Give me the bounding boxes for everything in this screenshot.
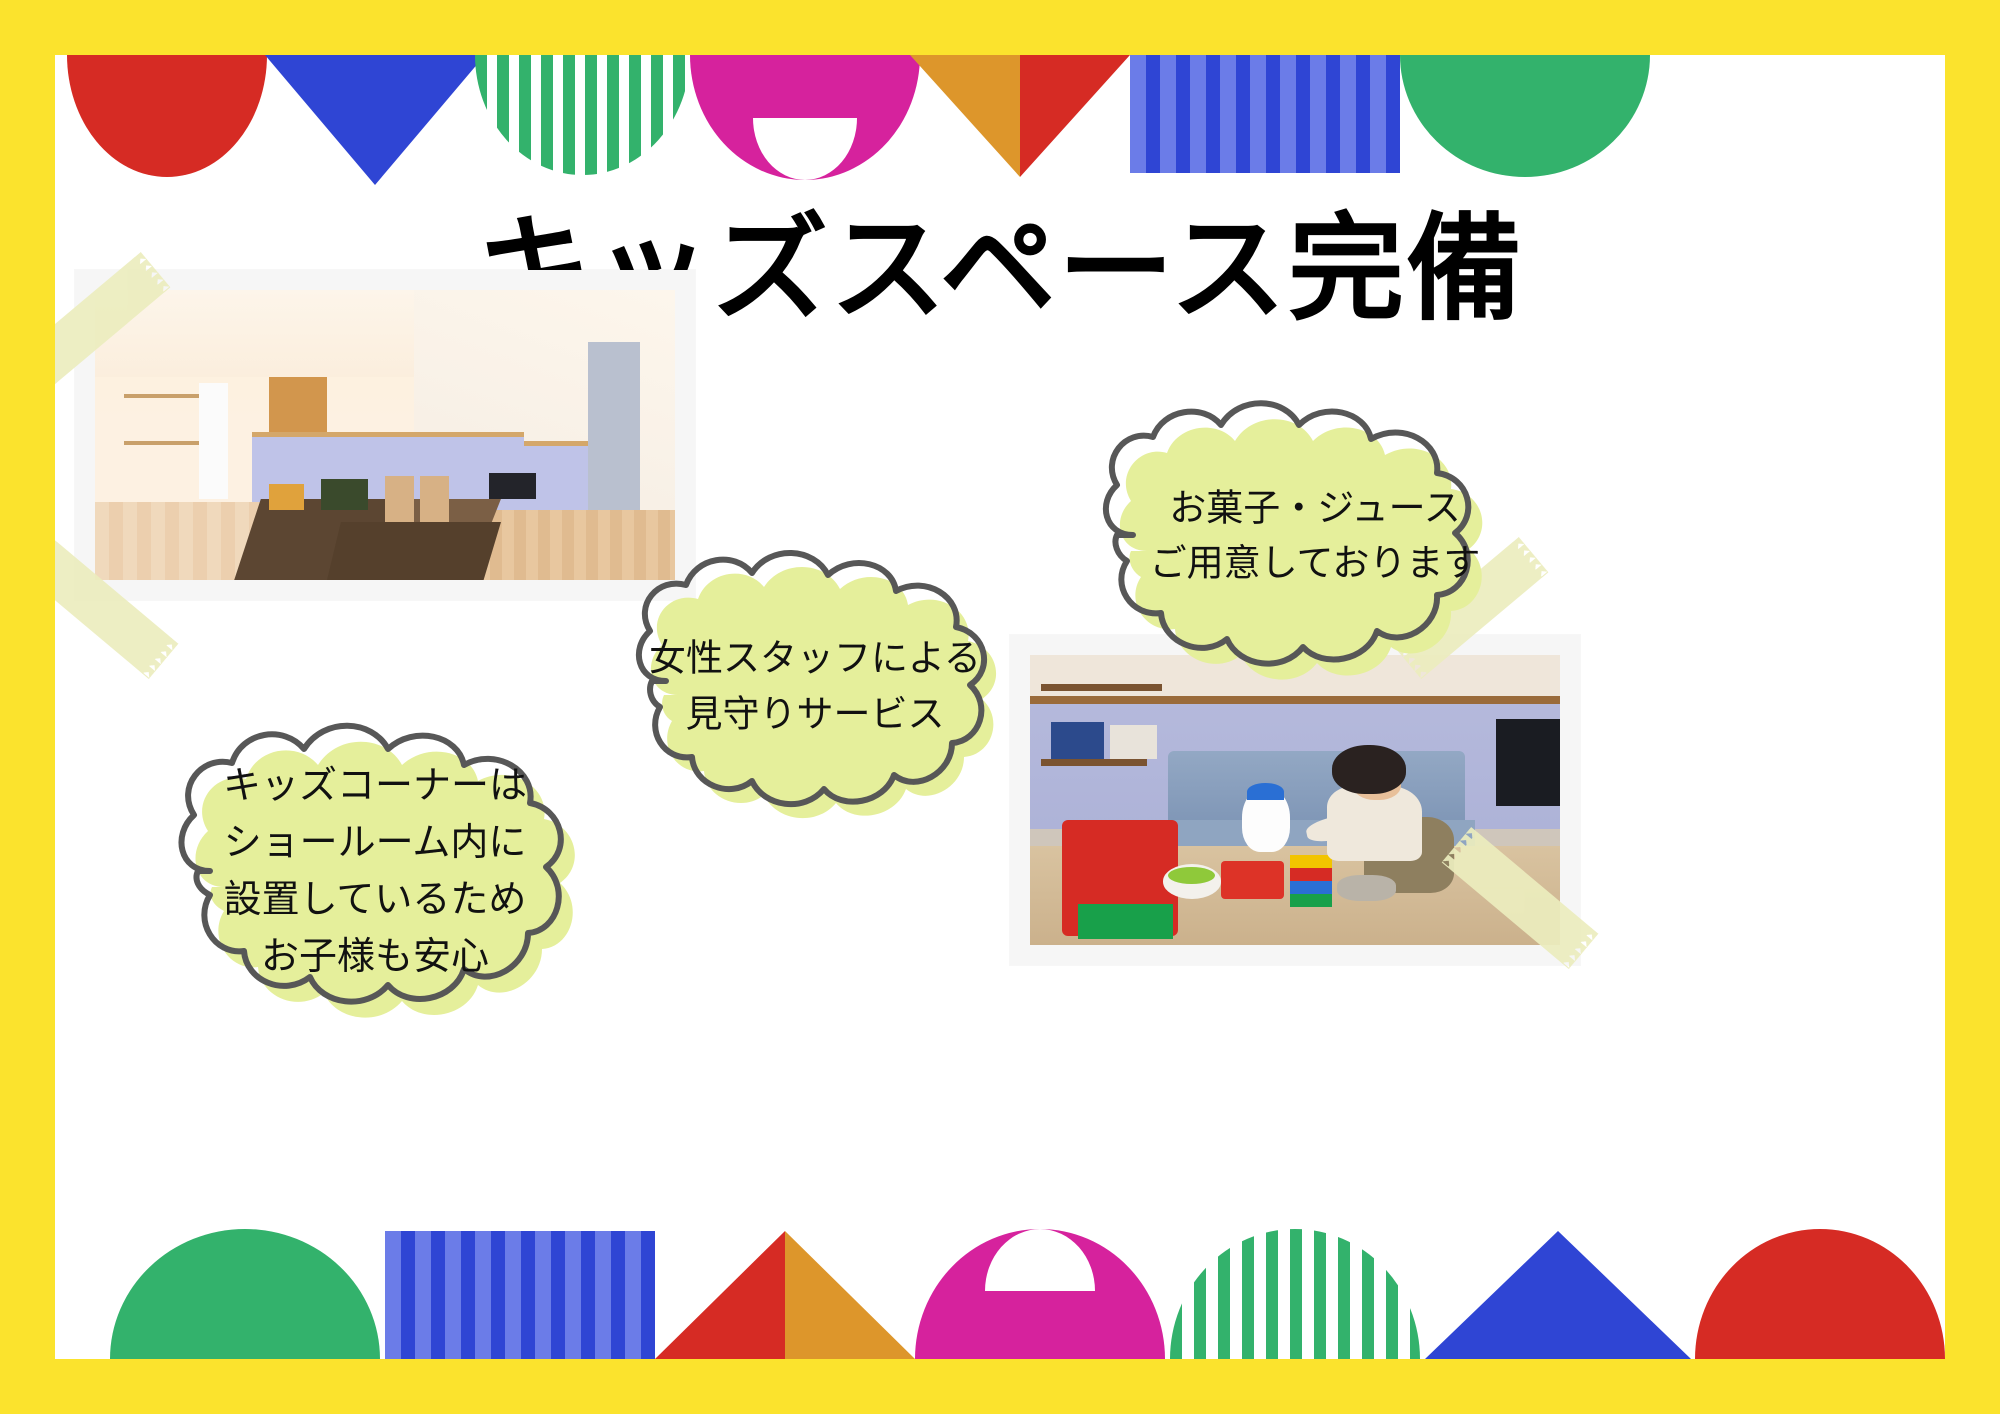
kids-chair-2 bbox=[420, 476, 449, 522]
arc-hole bbox=[753, 118, 857, 180]
poster-root: キッズスペース完備 bbox=[0, 0, 2000, 1414]
bubble-snacks-text: お菓子・ジュース ご用意しております bbox=[1055, 480, 1575, 591]
storage-box-blue bbox=[1051, 722, 1104, 760]
decoration-half-disc-red bbox=[67, 55, 267, 177]
toy-green bbox=[321, 479, 367, 511]
toy-tricycle bbox=[1221, 861, 1285, 899]
wall-rail bbox=[1030, 696, 1560, 704]
photo-image bbox=[1030, 655, 1560, 945]
decoration-half-disc-green bbox=[1400, 55, 1650, 177]
triangle-left-half bbox=[655, 1231, 785, 1359]
shelf-lower bbox=[1041, 759, 1147, 766]
decoration-half-disc-red bbox=[1695, 1229, 1945, 1359]
storage-box-white bbox=[1110, 725, 1158, 760]
decoration-half-disc-green bbox=[110, 1229, 380, 1359]
bubble-kids-corner: キッズコーナーは ショールーム内に 設置しているため お子様も安心 bbox=[140, 705, 610, 1025]
decoration-rect-blue-striped bbox=[385, 1231, 655, 1359]
poster-canvas: キッズスペース完備 bbox=[55, 55, 1945, 1359]
bubble-snacks: お菓子・ジュース ご用意しております bbox=[1055, 385, 1575, 675]
child-sock bbox=[1337, 875, 1395, 901]
photo-content bbox=[1030, 655, 1560, 945]
bubble-staff-text: 女性スタッフによる 見守りサービス bbox=[600, 631, 1030, 742]
toy-register-tray bbox=[1078, 904, 1173, 939]
triangle-right-half bbox=[785, 1231, 915, 1359]
decoration-triangle-red-orange bbox=[655, 1231, 915, 1359]
window bbox=[199, 383, 228, 499]
top-decoration-band bbox=[55, 55, 1945, 150]
play-mat-dark bbox=[327, 522, 501, 580]
decoration-triangle-blue bbox=[265, 55, 485, 185]
television bbox=[489, 473, 535, 499]
toy-box bbox=[269, 484, 304, 510]
bottom-decoration-band bbox=[55, 1264, 1945, 1359]
decoration-arc-magenta bbox=[915, 1229, 1165, 1359]
decoration-triangle-blue bbox=[1425, 1231, 1691, 1359]
kids-chair-1 bbox=[385, 476, 414, 522]
photo-image bbox=[95, 290, 675, 580]
bubble-kids-corner-text: キッズコーナーは ショールーム内に 設置しているため お子様も安心 bbox=[140, 757, 610, 985]
decoration-triangle-orange-red bbox=[910, 55, 1130, 177]
arc-hole bbox=[985, 1229, 1095, 1291]
shelf-upper bbox=[1041, 684, 1163, 691]
decoration-half-disc-green-striped bbox=[475, 55, 690, 175]
bubble-staff: 女性スタッフによる 見守りサービス bbox=[600, 535, 1030, 815]
photo-child-playing bbox=[1010, 635, 1580, 965]
television bbox=[1496, 719, 1560, 806]
building-blocks bbox=[1290, 855, 1332, 907]
photo-content bbox=[95, 290, 675, 580]
triangle-left-half bbox=[910, 55, 1020, 177]
triangle-right-half bbox=[1020, 55, 1130, 177]
child-hair bbox=[1332, 745, 1406, 794]
decoration-half-disc-green-striped bbox=[1170, 1229, 1420, 1359]
decoration-arc-magenta bbox=[690, 55, 920, 180]
sliding-door bbox=[588, 342, 640, 510]
decoration-rect-blue-striped bbox=[1130, 55, 1400, 173]
plush-toy-cap bbox=[1247, 783, 1284, 800]
